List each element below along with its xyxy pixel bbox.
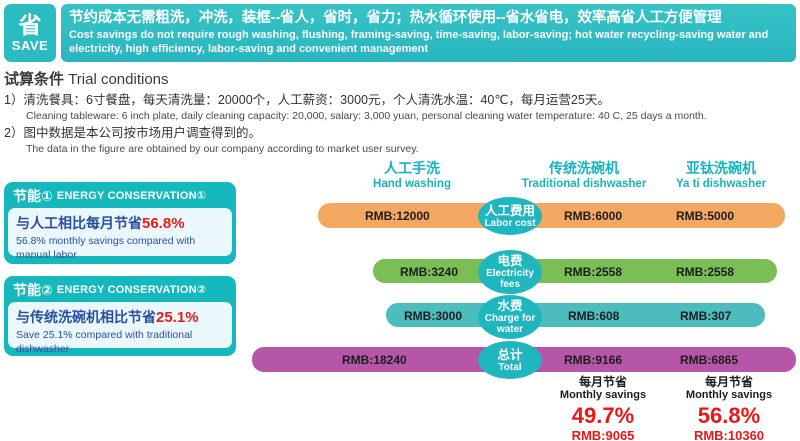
- panel-2-header-cn: 节能②: [13, 282, 53, 298]
- panel-2-claim-percent: 25.1%: [156, 309, 199, 326]
- monthly-savings-yati-amount: RMB:10360: [670, 428, 788, 441]
- value-water-traditional: RMB:608: [568, 309, 619, 323]
- energy-conservation-panel-2: 节能② ENERGY CONSERVATION② 与传统洗碗机相比节省25.1%…: [4, 276, 236, 356]
- monthly-savings-traditional-percent: 49.7%: [548, 403, 658, 428]
- panel-2-body: 与传统洗碗机相比节省25.1% Save 25.1% compared with…: [8, 302, 232, 348]
- column-header-hand-washing: 人工手洗 Hand washing: [352, 160, 472, 191]
- row-label-labor-cost-cn: 人工费用: [485, 204, 535, 218]
- condition-1-cn: 1）清洗餐具：6寸餐盘，每天清洗量：20000个，人工薪资：3000元，个人清洗…: [4, 92, 796, 109]
- value-labor-hand: RMB:12000: [365, 209, 430, 223]
- trial-title: 试算条件 Trial conditions: [4, 70, 796, 90]
- row-label-electricity-fees: 电费 Electricity fees: [478, 250, 542, 294]
- save-banner: 省 SAVE 节约成本无需粗洗，冲洗，装框--省人，省时，省力；热水循环使用--…: [0, 0, 800, 66]
- row-label-total: 总计 Total: [478, 341, 542, 379]
- monthly-savings-yati-percent: 56.8%: [670, 403, 788, 428]
- monthly-savings-traditional-cn: 每月节省: [548, 375, 658, 389]
- panel-1-body: 与人工相比每月节省56.8% 56.8% monthly savings com…: [8, 208, 232, 256]
- banner-headline-en: Cost savings do not require rough washin…: [69, 29, 788, 56]
- monthly-savings-yati-en: Monthly savings: [670, 389, 788, 402]
- save-badge-cn: 省: [19, 13, 42, 38]
- energy-conservation-panel-1: 节能① ENERGY CONSERVATION① 与人工相比每月节省56.8% …: [4, 182, 236, 264]
- monthly-savings-yati-cn: 每月节省: [670, 375, 788, 389]
- column-header-traditional-dishwasher-en: Traditional dishwasher: [514, 177, 654, 191]
- monthly-savings-traditional-amount: RMB:9065: [548, 428, 658, 441]
- column-header-yati-dishwasher-cn: 亚钛洗碗机: [656, 160, 786, 177]
- column-header-traditional-dishwasher: 传统洗碗机 Traditional dishwasher: [514, 160, 654, 191]
- value-electricity-traditional: RMB:2558: [564, 265, 622, 279]
- row-label-charge-for-water-cn: 水费: [497, 299, 522, 313]
- monthly-savings-traditional-en: Monthly savings: [548, 389, 658, 402]
- value-labor-yati: RMB:5000: [676, 209, 734, 223]
- column-header-yati-dishwasher: 亚钛洗碗机 Ya ti dishwasher: [656, 160, 786, 191]
- save-badge-en: SAVE: [12, 38, 48, 53]
- panel-1-header-cn: 节能①: [13, 188, 53, 204]
- panel-1-claim-percent: 56.8%: [142, 215, 185, 232]
- value-water-hand: RMB:3000: [404, 309, 462, 323]
- banner-text-block: 节约成本无需粗洗，冲洗，装框--省人，省时，省力；热水循环使用--省水省电，效率…: [61, 4, 796, 62]
- banner-headline-cn: 节约成本无需粗洗，冲洗，装框--省人，省时，省力；热水循环使用--省水省电，效率…: [69, 9, 788, 28]
- panel-1-claim-en: 56.8% monthly savings compared with manu…: [16, 235, 224, 262]
- value-electricity-hand: RMB:3240: [400, 265, 458, 279]
- panel-2-claim-cn: 与传统洗碗机相比节省25.1%: [16, 308, 224, 327]
- condition-1-en: Cleaning tableware: 6 inch plate, daily …: [4, 109, 796, 123]
- trial-title-cn: 试算条件: [4, 71, 64, 88]
- value-total-hand: RMB:18240: [342, 353, 407, 367]
- row-label-labor-cost-en: Labor cost: [484, 218, 535, 229]
- panel-2-header: 节能② ENERGY CONSERVATION②: [8, 280, 232, 299]
- row-label-labor-cost: 人工费用 Labor cost: [478, 197, 542, 235]
- value-electricity-yati: RMB:2558: [676, 265, 734, 279]
- panel-1-claim-cn: 与人工相比每月节省56.8%: [16, 214, 224, 233]
- trial-title-en: Trial conditions: [68, 71, 168, 88]
- condition-2: 2）图中数据是本公司按市场用户调查得到的。 The data in the fi…: [4, 125, 796, 156]
- row-label-electricity-fees-en: Electricity fees: [478, 268, 542, 290]
- value-labor-traditional: RMB:6000: [564, 209, 622, 223]
- panel-1-header-en: ENERGY CONSERVATION①: [57, 189, 206, 202]
- row-label-electricity-fees-cn: 电费: [497, 254, 522, 268]
- trial-conditions: 试算条件 Trial conditions 1）清洗餐具：6寸餐盘，每天清洗量：…: [4, 70, 796, 156]
- condition-1: 1）清洗餐具：6寸餐盘，每天清洗量：20000个，人工薪资：3000元，个人清洗…: [4, 92, 796, 123]
- row-label-total-en: Total: [498, 362, 521, 373]
- panel-1-claim-text: 与人工相比每月节省: [16, 215, 142, 231]
- condition-2-cn: 2）图中数据是本公司按市场用户调查得到的。: [4, 125, 796, 142]
- save-badge: 省 SAVE: [4, 4, 56, 62]
- row-label-charge-for-water: 水费 Charge for water: [478, 295, 542, 339]
- monthly-savings-yati: 每月节省 Monthly savings 56.8% RMB:10360: [670, 375, 788, 441]
- condition-2-en: The data in the figure are obtained by o…: [4, 142, 796, 156]
- value-total-traditional: RMB:9166: [564, 353, 622, 367]
- panel-1-header: 节能① ENERGY CONSERVATION①: [8, 186, 232, 205]
- infographic-root: 省 SAVE 节约成本无需粗洗，冲洗，装框--省人，省时，省力；热水循环使用--…: [0, 0, 800, 441]
- column-header-hand-washing-cn: 人工手洗: [352, 160, 472, 177]
- panel-2-header-en: ENERGY CONSERVATION②: [57, 283, 206, 296]
- panel-2-claim-en: Save 25.1% compared with traditional dis…: [16, 329, 224, 356]
- row-label-charge-for-water-en: Charge for water: [478, 313, 542, 335]
- monthly-savings-traditional: 每月节省 Monthly savings 49.7% RMB:9065: [548, 375, 658, 441]
- column-header-traditional-dishwasher-cn: 传统洗碗机: [514, 160, 654, 177]
- value-water-yati: RMB:307: [680, 309, 731, 323]
- row-label-total-cn: 总计: [497, 348, 522, 362]
- panel-2-claim-text: 与传统洗碗机相比节省: [16, 309, 156, 325]
- column-header-yati-dishwasher-en: Ya ti dishwasher: [656, 177, 786, 191]
- value-total-yati: RMB:6865: [680, 353, 738, 367]
- column-header-hand-washing-en: Hand washing: [352, 177, 472, 191]
